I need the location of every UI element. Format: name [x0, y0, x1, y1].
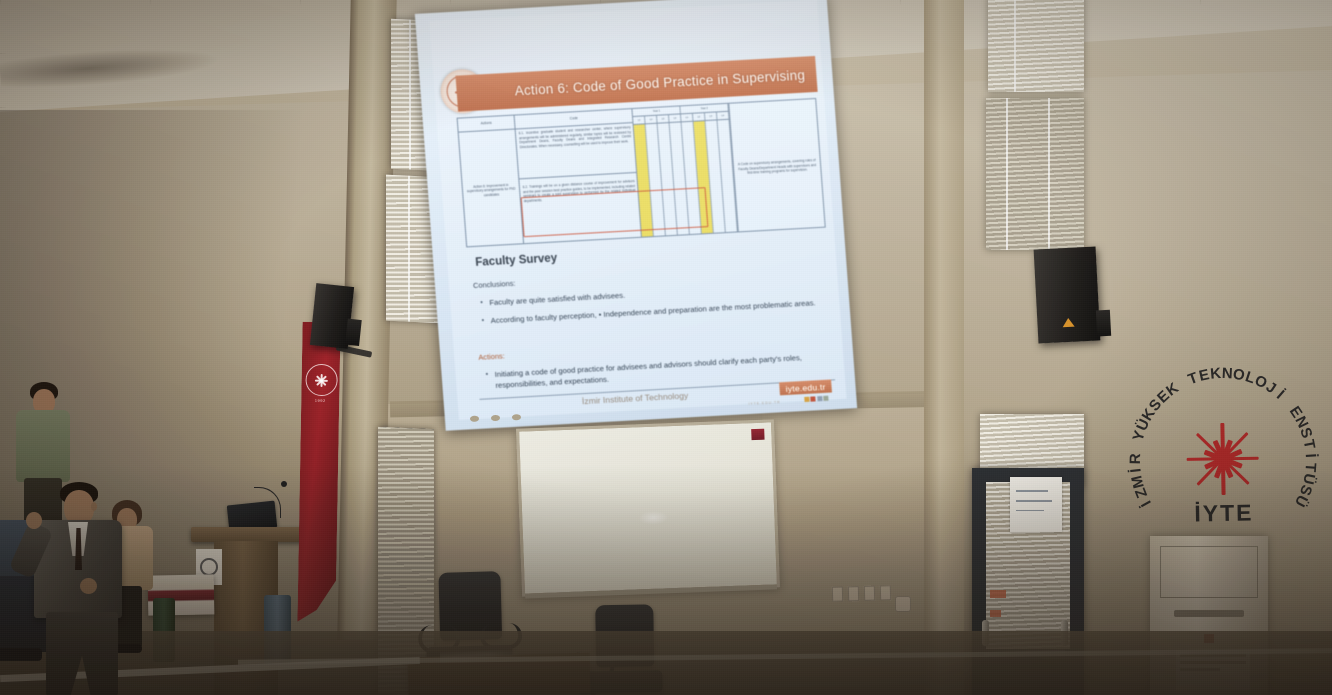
- q-y1-4: Q4: [669, 114, 681, 122]
- table-column-note: A Code on supervisory arrangements, cove…: [729, 99, 824, 231]
- slide-section-heading: Faculty Survey: [475, 252, 558, 268]
- slide-title: Action 6: Code of Good Practice in Super…: [514, 67, 805, 98]
- slide-footer-minitext: İYTE.EDU.TR: [748, 400, 780, 406]
- slide-footer-badge: iyte.edu.tr: [779, 380, 832, 396]
- whiteboard-sticker: [751, 429, 764, 440]
- pa-speaker-right: [1034, 246, 1101, 343]
- table-cell-note: A Code on supervisory arrangements, cove…: [729, 99, 825, 235]
- blind-cord: [409, 20, 411, 170]
- presentation-slide: Action 6: Code of Good Practice in Super…: [429, 0, 846, 420]
- window-blinds[interactable]: [988, 0, 1084, 92]
- action-bullet-1: Initiating a code of good practice for a…: [485, 352, 826, 392]
- window-right-middle: [986, 98, 1084, 250]
- iyte-circle-char: İ: [1273, 387, 1287, 403]
- iyte-circle-char: [1128, 444, 1145, 451]
- pennant-emblem-icon: [305, 364, 338, 397]
- table-cell-action-label: Action 6: Improvement in supervisory arr…: [459, 130, 524, 252]
- pa-speaker-left: [310, 283, 354, 349]
- pennant-year: 1992: [301, 398, 339, 404]
- actions-label: Actions:: [478, 351, 505, 361]
- screen-surface: Action 6: Code of Good Practice in Super…: [415, 0, 857, 431]
- iyte-circle-char: R: [1127, 453, 1144, 464]
- q-y2-4: Q4: [717, 112, 729, 120]
- iyte-circle-char: T: [1300, 438, 1318, 450]
- conclusions-label: Conclusions:: [473, 279, 516, 290]
- blind-cord: [1048, 98, 1050, 250]
- q-y2-3: Q3: [705, 112, 717, 120]
- q-y1-2: Q2: [645, 116, 657, 124]
- blind-cord: [408, 176, 410, 322]
- speaker-brand-triangle-icon: [1062, 318, 1074, 328]
- slide-footer-swatches: [804, 396, 829, 402]
- table-column-actions: Actions Action 6: Improvement in supervi…: [458, 116, 525, 247]
- iyte-circle-char: İ: [1302, 453, 1319, 458]
- slide-schedule-table: Actions Action 6: Improvement in supervi…: [457, 98, 826, 247]
- window-right-upper: [988, 0, 1084, 92]
- q-y1-3: Q3: [657, 115, 669, 123]
- projection-screen: Action 6: Code of Good Practice in Super…: [415, 0, 857, 431]
- window-blinds[interactable]: [986, 98, 1084, 250]
- q-y2-2: Q2: [693, 113, 705, 121]
- blind-cord: [1014, 0, 1016, 92]
- ambient-shadow: [0, 465, 1332, 695]
- presentation-room-photo: Action 6: Code of Good Practice in Super…: [0, 0, 1332, 695]
- q-y1-1: Q1: [633, 116, 645, 124]
- blind-cord: [1006, 98, 1008, 250]
- iyte-circle-char: K: [1210, 365, 1222, 383]
- q-y2-1: Q1: [681, 114, 693, 122]
